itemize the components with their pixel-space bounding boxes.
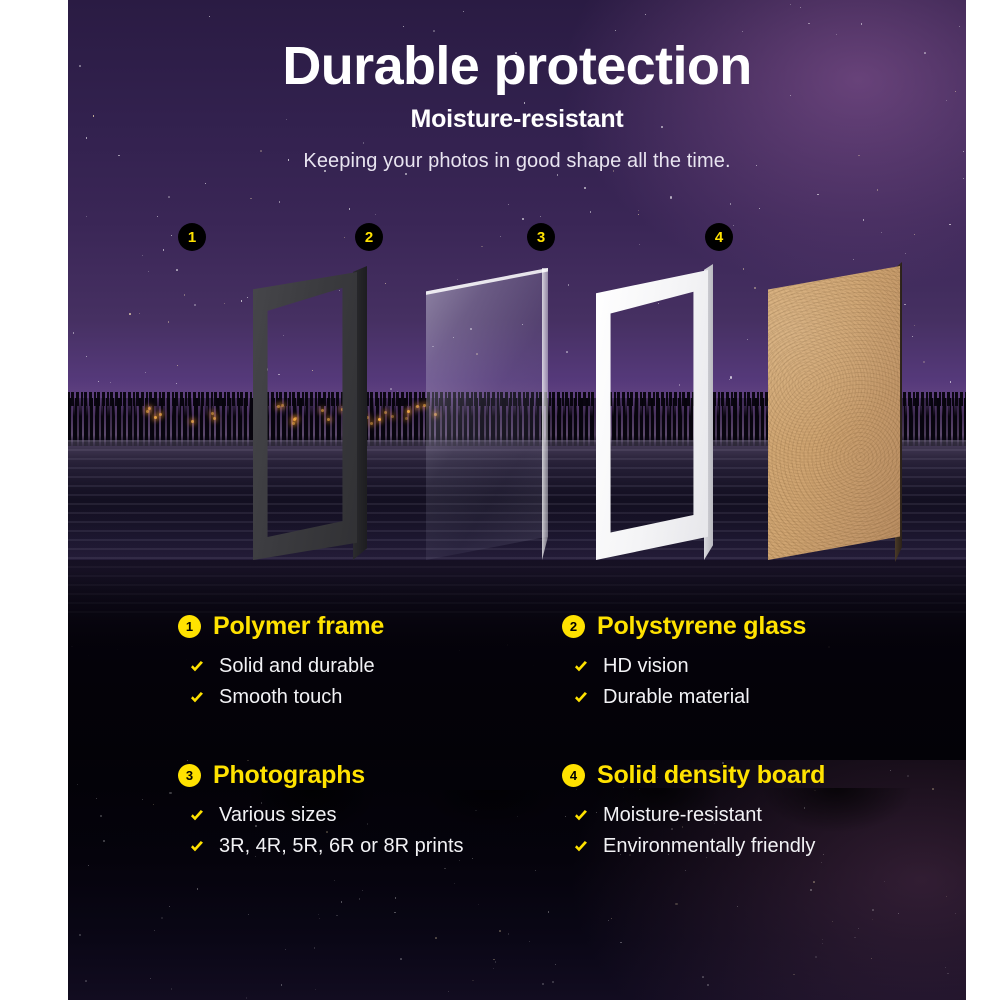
feature-badge-4: 4: [562, 764, 585, 787]
feature-badge-2: 2: [562, 615, 585, 638]
list-item: Durable material: [573, 686, 946, 709]
bullet-text: Various sizes: [219, 804, 336, 827]
diagram-marker-2: 2: [355, 223, 383, 251]
header-block: Durable protection Moisture-resistant Ke…: [68, 0, 966, 173]
component-density-board: [768, 248, 908, 563]
page-subtitle: Moisture-resistant: [68, 105, 966, 134]
feature-heading: 1 Polymer frame: [178, 612, 562, 641]
feature-bullet-list-3: Various sizes 3R, 4R, 5R, 6R or 8R print…: [178, 804, 562, 858]
list-item: 3R, 4R, 5R, 6R or 8R prints: [189, 835, 562, 858]
component-polymer-frame: [253, 250, 373, 560]
feature-heading: 4 Solid density board: [562, 761, 946, 790]
feature-photographs: 3 Photographs Various sizes 3R, 4R, 5R, …: [178, 761, 562, 866]
feature-density-board: 4 Solid density board Moisture-resistant…: [562, 761, 946, 866]
feature-bullet-list-1: Solid and durable Smooth touch: [178, 655, 562, 709]
check-icon: [189, 839, 205, 855]
check-icon: [573, 839, 589, 855]
list-item: Solid and durable: [189, 655, 562, 678]
diagram-marker-1: 1: [178, 223, 206, 251]
check-icon: [573, 690, 589, 706]
feature-badge-3: 3: [178, 764, 201, 787]
bullet-text: Smooth touch: [219, 686, 342, 709]
feature-bullet-list-4: Moisture-resistant Environmentally frien…: [562, 804, 946, 858]
bullet-text: Environmentally friendly: [603, 835, 815, 858]
check-icon: [189, 690, 205, 706]
frame-front-face: [253, 272, 357, 560]
page-tagline: Keeping your photos in good shape all th…: [68, 150, 966, 173]
page-title: Durable protection: [68, 38, 966, 95]
check-icon: [189, 659, 205, 675]
bullet-text: Solid and durable: [219, 655, 375, 678]
bullet-text: Moisture-resistant: [603, 804, 762, 827]
feature-badge-1: 1: [178, 615, 201, 638]
check-icon: [573, 808, 589, 824]
list-item: Various sizes: [189, 804, 562, 827]
feature-heading: 2 Polystyrene glass: [562, 612, 946, 641]
diagram-marker-3: 3: [527, 223, 555, 251]
feature-title-2: Polystyrene glass: [597, 612, 806, 641]
check-icon: [573, 659, 589, 675]
glass-panel-face: [426, 268, 548, 560]
glass-right-edge-highlight: [542, 268, 548, 560]
feature-bullet-list-2: HD vision Durable material: [562, 655, 946, 709]
check-icon: [189, 808, 205, 824]
feature-heading: 3 Photographs: [178, 761, 562, 790]
board-front-face: [768, 266, 900, 560]
feature-polymer-frame: 1 Polymer frame Solid and durable Smooth…: [178, 612, 562, 717]
infographic-page: Durable protection Moisture-resistant Ke…: [0, 0, 1000, 1000]
feature-polystyrene-glass: 2 Polystyrene glass HD vision Durable ma…: [562, 612, 946, 717]
diagram-marker-4: 4: [705, 223, 733, 251]
bullet-text: Durable material: [603, 686, 750, 709]
feature-title-4: Solid density board: [597, 761, 825, 790]
component-photograph-mat: [596, 250, 718, 560]
feature-title-1: Polymer frame: [213, 612, 384, 641]
feature-title-3: Photographs: [213, 761, 365, 790]
bullet-text: 3R, 4R, 5R, 6R or 8R prints: [219, 835, 464, 858]
list-item: HD vision: [573, 655, 946, 678]
list-item: Environmentally friendly: [573, 835, 946, 858]
mat-front-face: [596, 270, 708, 560]
bullet-text: HD vision: [603, 655, 689, 678]
component-polystyrene-glass: [426, 250, 556, 560]
list-item: Moisture-resistant: [573, 804, 946, 827]
feature-grid: 1 Polymer frame Solid and durable Smooth…: [68, 612, 966, 866]
list-item: Smooth touch: [189, 686, 562, 709]
